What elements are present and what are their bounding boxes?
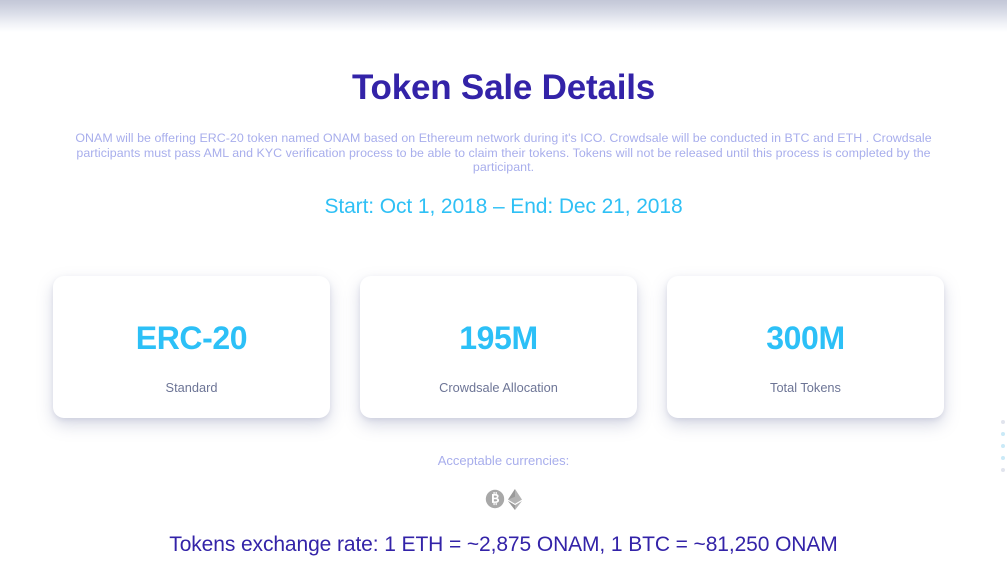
intro-paragraph: ONAM will be offering ERC-20 token named…: [53, 131, 954, 175]
tokens-exchange-rate: Tokens exchange rate: 1 ETH = ~2,875 ONA…: [0, 533, 1007, 557]
edge-dot-icon: [1001, 456, 1005, 460]
stat-card-value: 300M: [667, 320, 944, 357]
currency-icons-row: [0, 487, 1007, 511]
page-content: Token Sale Details ONAM will be offering…: [0, 0, 1007, 570]
edge-dot-icon: [1001, 444, 1005, 448]
stat-card-value: ERC-20: [53, 320, 330, 357]
stat-card-crowdsale-allocation: 195M Crowdsale Allocation: [360, 276, 637, 418]
ethereum-icon: [508, 489, 522, 510]
token-sale-page: Token Sale Details ONAM will be offering…: [0, 0, 1007, 570]
stat-card-label: Crowdsale Allocation: [360, 380, 637, 395]
stat-card-total-tokens: 300M Total Tokens: [667, 276, 944, 418]
edge-dot-icon: [1001, 468, 1005, 472]
edge-dot-icon: [1001, 420, 1005, 424]
bitcoin-icon: [485, 489, 505, 509]
stat-card-label: Total Tokens: [667, 380, 944, 395]
sale-date-range: Start: Oct 1, 2018 – End: Dec 21, 2018: [0, 195, 1007, 219]
stat-card-standard: ERC-20 Standard: [53, 276, 330, 418]
stat-card-label: Standard: [53, 380, 330, 395]
acceptable-currencies-label: Acceptable currencies:: [0, 453, 1007, 468]
edge-dot-icon: [1001, 432, 1005, 436]
page-title: Token Sale Details: [0, 68, 1007, 108]
stat-card-value: 195M: [360, 320, 637, 357]
stat-cards-row: ERC-20 Standard 195M Crowdsale Allocatio…: [53, 276, 944, 418]
edge-scroll-indicator[interactable]: [999, 420, 1007, 472]
